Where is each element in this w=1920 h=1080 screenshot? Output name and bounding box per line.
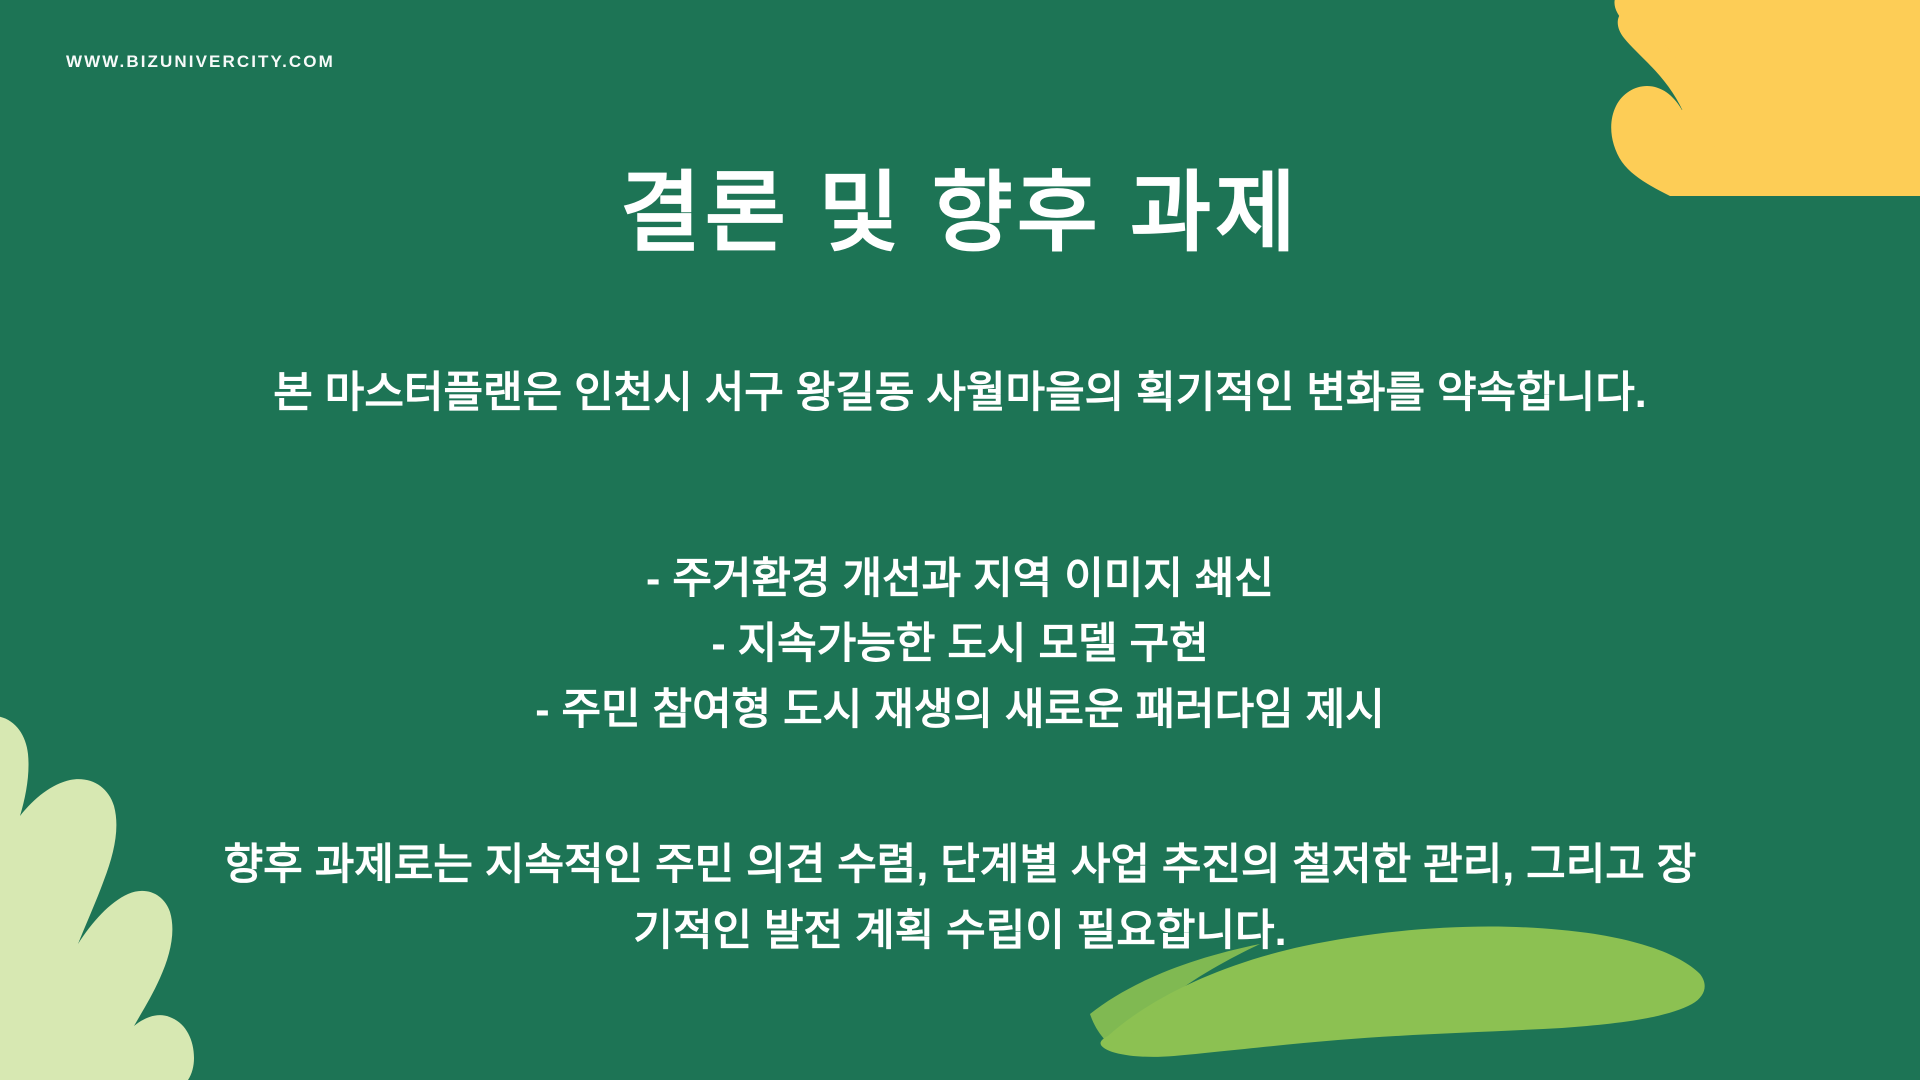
slide-content: 결론 및 향후 과제 본 마스터플랜은 인천시 서구 왕길동 사월마을의 획기적…: [0, 0, 1920, 1080]
closing-paragraph: 향후 과제로는 지속적인 주민 의견 수렴, 단계별 사업 추진의 철저한 관리…: [210, 833, 1710, 964]
intro-paragraph: 본 마스터플랜은 인천시 서구 왕길동 사월마을의 획기적인 변화를 약속합니다…: [170, 361, 1750, 426]
list-item: - 지속가능한 도시 모델 구현: [260, 612, 1660, 677]
key-outcomes-list: - 주거환경 개선과 지역 이미지 쇄신 - 지속가능한 도시 모델 구현 - …: [260, 547, 1660, 743]
list-item: - 주거환경 개선과 지역 이미지 쇄신: [260, 547, 1660, 612]
list-item: - 주민 참여형 도시 재생의 새로운 패러다임 제시: [260, 678, 1660, 743]
page-title: 결론 및 향후 과제: [620, 168, 1300, 258]
slide-canvas: WWW.BIZUNIVERCITY.COM 결론 및 향후 과제 본 마스터플랜…: [0, 0, 1920, 1080]
